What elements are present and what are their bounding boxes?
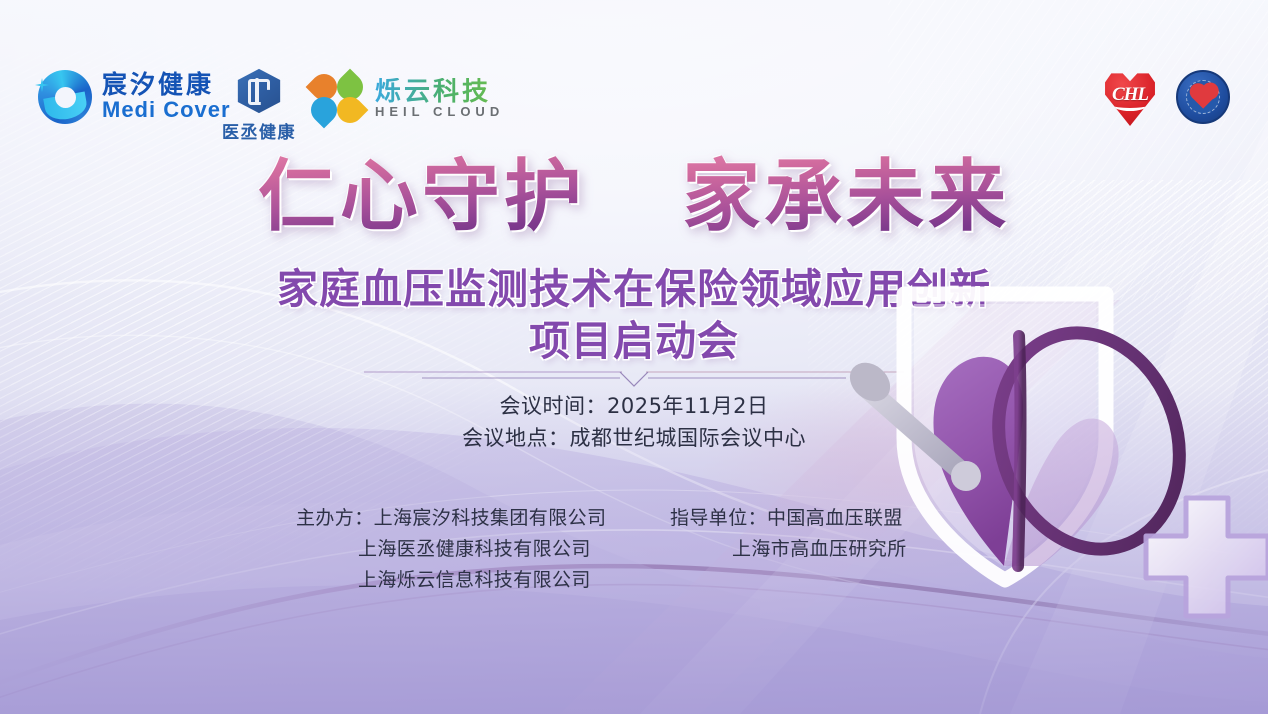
shield-heart-stethoscope-graphic — [844, 266, 1268, 686]
logo-medi-cover: 宸汐健康 Medi Cover — [38, 70, 231, 124]
host-line: 主办方：上海宸汐科技集团有限公司 — [296, 503, 636, 534]
circular-swirl-icon — [38, 70, 92, 124]
logo-hypertension-institute — [1176, 70, 1230, 124]
logo-row: 宸汐健康 Medi Cover 医丞健康 烁云科技 HEIL CLOUD CHL — [0, 34, 1268, 112]
blue-seal-icon — [1176, 70, 1230, 124]
decorative-divider — [364, 364, 904, 388]
logo-yicheng-cn: 医丞健康 — [222, 118, 296, 143]
conference-banner: 宸汐健康 Medi Cover 医丞健康 烁云科技 HEIL CLOUD CHL — [0, 0, 1268, 714]
logo-medi-cover-cn: 宸汐健康 — [102, 73, 231, 99]
logo-chl: CHL — [1104, 70, 1156, 126]
logo-medi-cover-en: Medi Cover — [102, 99, 231, 121]
logo-heil-cloud: 烁云科技 HEIL CLOUD — [310, 72, 504, 124]
host-line: 上海烁云信息科技有限公司 — [296, 565, 636, 596]
host-line: 上海医丞健康科技有限公司 — [296, 534, 636, 565]
logo-yicheng-health: 医丞健康 — [222, 68, 296, 143]
logo-heil-cloud-en: HEIL CLOUD — [375, 105, 504, 119]
pinwheel-icon — [310, 72, 364, 124]
red-shield-heart-icon: CHL — [1104, 70, 1156, 126]
host-column: 主办方：上海宸汐科技集团有限公司 上海医丞健康科技有限公司 上海烁云信息科技有限… — [296, 503, 636, 595]
banner-headline: 仁心守护 家承未来 — [0, 158, 1268, 236]
logo-heil-cloud-cn: 烁云科技 — [375, 78, 504, 105]
headline-part-1: 仁心守护 — [258, 152, 586, 242]
headline-part-2: 家承未来 — [682, 152, 1010, 242]
cube-icon — [236, 68, 282, 114]
